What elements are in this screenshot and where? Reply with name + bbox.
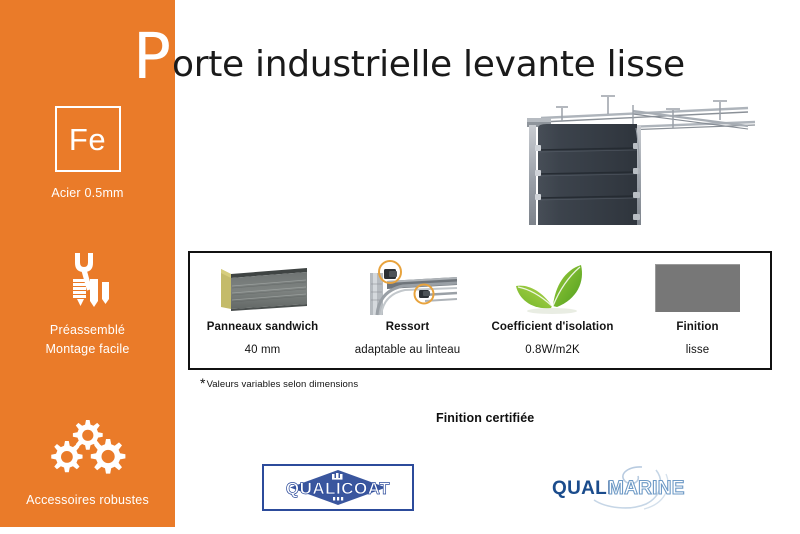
qualimarine-text-bold: QUALI xyxy=(552,478,613,499)
footnote: *Valeurs variables selon dimensions xyxy=(200,379,358,390)
feature-title: Finition xyxy=(676,321,718,333)
footnote-text: Valeurs variables selon dimensions xyxy=(207,379,359,390)
gears-icon xyxy=(0,415,175,481)
gray-color-swatch xyxy=(655,258,740,318)
qualicoat-text: QUALICOAT xyxy=(286,479,390,498)
wrench-screws-icon xyxy=(0,245,175,311)
feature-finish: Finition lisse xyxy=(625,253,770,368)
feature-title: Ressort xyxy=(386,321,430,333)
qualimarine-logo: QUALI MARINE xyxy=(538,464,713,514)
sidebar-item-steel: Fe Acier 0.5mm xyxy=(0,106,175,203)
title-text: orte industrielle levante lisse xyxy=(172,45,685,85)
feature-value: adaptable au linteau xyxy=(355,344,461,356)
features-box: Panneaux sandwich 40 mm xyxy=(188,251,772,370)
qualicoat-logo: QUALICOAT xyxy=(262,464,414,511)
fe-symbol: Fe xyxy=(69,124,106,155)
sidebar-item-preassembled-label-2: Montage facile xyxy=(0,340,175,359)
fe-element-icon: Fe xyxy=(55,106,121,172)
sidebar-item-steel-label: Acier 0.5mm xyxy=(0,184,175,203)
title-drop-cap: P xyxy=(133,26,171,88)
footnote-asterisk: * xyxy=(200,375,206,391)
green-leaves-icon xyxy=(507,258,599,318)
feature-title: Panneaux sandwich xyxy=(207,321,319,333)
sidebar-item-preassembled: Préassemblé Montage facile xyxy=(0,245,175,359)
feature-insulation: Coefficient d'isolation 0.8W/m2K xyxy=(480,253,625,368)
poster-page: Fe Acier 0.5mm xyxy=(0,0,800,534)
sidebar-item-accessories: Accessoires robustes xyxy=(0,415,175,510)
feature-value: lisse xyxy=(686,344,710,356)
sidebar-item-accessories-label: Accessoires robustes xyxy=(0,491,175,510)
feature-sandwich-panel: Panneaux sandwich 40 mm xyxy=(190,253,335,368)
page-title: P orte industrielle levante lisse xyxy=(133,24,685,86)
feature-value: 40 mm xyxy=(245,344,281,356)
qualimarine-text-light: MARINE xyxy=(608,478,685,499)
feature-value: 0.8W/m2K xyxy=(525,344,579,356)
product-image xyxy=(505,88,790,228)
finish-color-swatch xyxy=(655,264,740,312)
feature-title: Coefficient d'isolation xyxy=(492,321,614,333)
certification-label: Finition certifiée xyxy=(436,411,534,425)
sidebar-item-preassembled-label-1: Préassemblé xyxy=(0,321,175,340)
spring-mechanism-image xyxy=(353,258,463,318)
feature-spring: Ressort adaptable au linteau xyxy=(335,253,480,368)
sandwich-panel-image xyxy=(211,258,315,318)
